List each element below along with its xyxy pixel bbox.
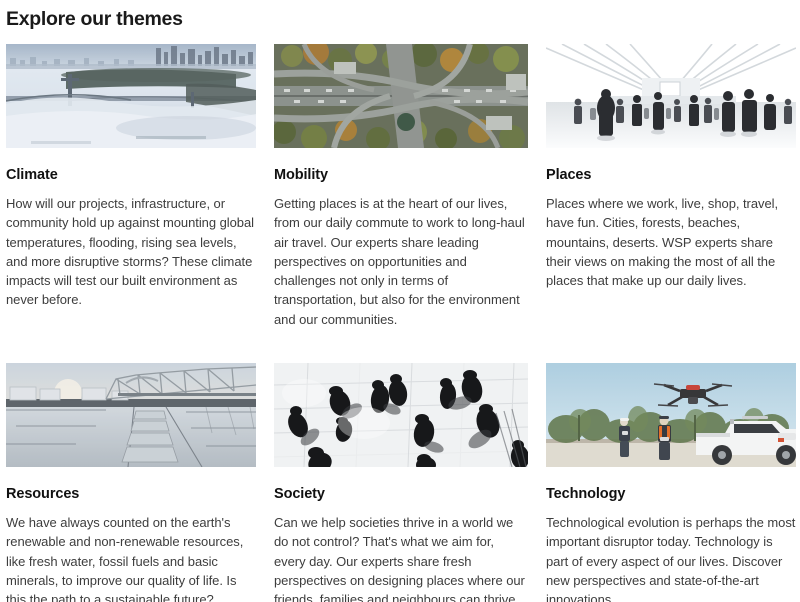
theme-body-climate: How will our projects, infrastructure, o… — [6, 184, 256, 310]
theme-body-places: Places where we work, live, shop, travel… — [546, 184, 796, 290]
theme-heading-mobility: Mobility — [274, 148, 528, 184]
water-treatment-plant-photo — [6, 363, 256, 467]
pedestrians-overhead-view-photo — [274, 363, 528, 467]
theme-card-society[interactable]: Society Can we help societies thrive in … — [274, 363, 528, 602]
society-thumbnail[interactable] — [274, 363, 528, 467]
theme-card-mobility[interactable]: Mobility Getting places is at the heart … — [274, 44, 528, 329]
theme-body-resources: We have always counted on the earth's re… — [6, 503, 256, 602]
places-thumbnail[interactable] — [546, 44, 796, 148]
theme-heading-places: Places — [546, 148, 796, 184]
theme-heading-climate: Climate — [6, 148, 256, 184]
theme-heading-society: Society — [274, 467, 528, 503]
theme-card-places[interactable]: Places Places where we work, live, shop,… — [546, 44, 796, 329]
page-title: Explore our themes — [6, 0, 794, 31]
highway-interchange-aerial-photo — [274, 44, 528, 148]
mobility-thumbnail[interactable] — [274, 44, 528, 148]
theme-card-resources[interactable]: Resources We have always counted on the … — [6, 363, 256, 602]
theme-heading-resources: Resources — [6, 467, 256, 503]
white-transit-hall-commuters-photo — [546, 44, 796, 148]
theme-card-technology[interactable]: Technology Technological evolution is pe… — [546, 363, 796, 602]
themes-page: Explore our themes — [0, 0, 800, 602]
theme-body-society: Can we help societies thrive in a world … — [274, 503, 528, 602]
foggy-harbour-bridge-aerial-photo — [6, 44, 256, 148]
resources-thumbnail[interactable] — [6, 363, 256, 467]
drone-operators-field-photo — [546, 363, 796, 467]
theme-heading-technology: Technology — [546, 467, 796, 503]
theme-body-technology: Technological evolution is perhaps the m… — [546, 503, 796, 602]
theme-body-mobility: Getting places is at the heart of our li… — [274, 184, 528, 329]
climate-thumbnail[interactable] — [6, 44, 256, 148]
theme-card-climate[interactable]: Climate How will our projects, infrastru… — [6, 44, 256, 329]
themes-grid: Climate How will our projects, infrastru… — [6, 44, 794, 602]
technology-thumbnail[interactable] — [546, 363, 796, 467]
